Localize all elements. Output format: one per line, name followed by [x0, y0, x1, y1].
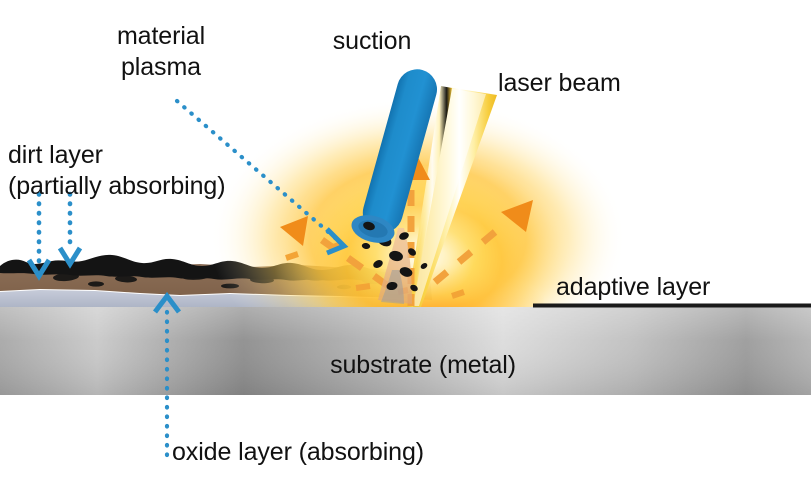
dirt-pointer-2 — [60, 194, 80, 264]
label-suction: suction — [312, 26, 432, 57]
label-laser-beam: laser beam — [498, 68, 658, 99]
label-dirt-layer: dirt layer (partially absorbing) — [8, 140, 288, 201]
label-substrate: substrate (metal) — [313, 350, 533, 381]
label-oxide-layer: oxide layer (absorbing) — [172, 437, 492, 468]
label-material-plasma: material plasma — [66, 21, 256, 82]
label-adaptive-layer: adaptive layer — [556, 272, 756, 303]
diagram-canvas: material plasma suction laser beam dirt … — [0, 0, 811, 495]
